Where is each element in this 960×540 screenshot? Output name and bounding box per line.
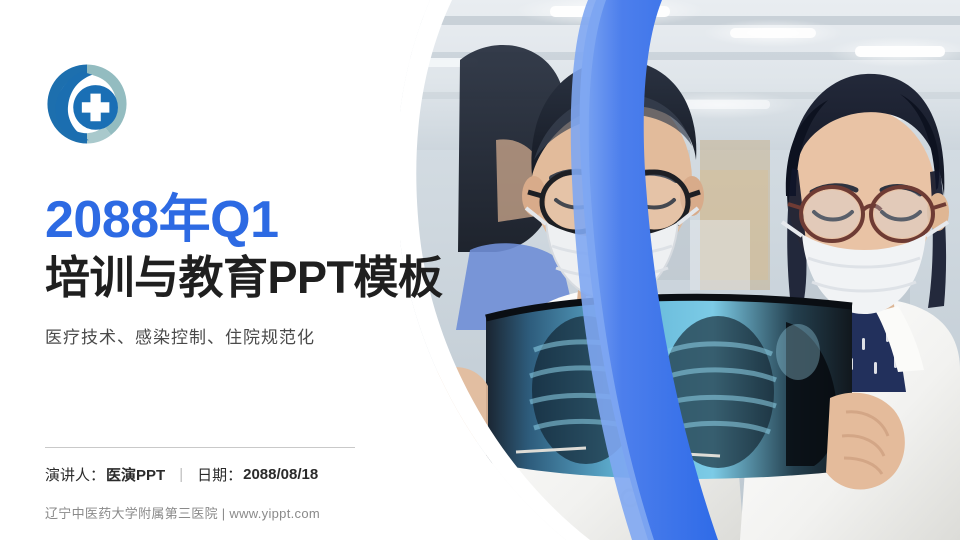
hero-photo (400, 0, 960, 540)
footer-meta-row: 演讲人： 医演PPT | 日期： 2088/08/18 (45, 464, 465, 485)
title-main: 培训与教育PPT模板 (45, 250, 465, 306)
speaker-label: 演讲人： (45, 464, 105, 485)
presentation-slide: 2088年Q1 培训与教育PPT模板 医疗技术、感染控制、住院规范化 演讲人： … (0, 0, 960, 540)
organization-and-website: 辽宁中医药大学附属第三医院 | www.yippt.com (45, 503, 465, 522)
footer-block: 演讲人： 医演PPT | 日期： 2088/08/18 辽宁中医药大学附属第三医… (45, 447, 465, 522)
title-year: 2088年Q1 (45, 190, 465, 250)
title-subtitle: 医疗技术、感染控制、住院规范化 (45, 326, 465, 350)
meta-separator: | (179, 466, 183, 483)
hospital-logo (44, 61, 130, 147)
title-block: 2088年Q1 培训与教育PPT模板 医疗技术、感染控制、住院规范化 (45, 190, 465, 350)
date-label: 日期： (197, 464, 242, 485)
date-value: 2088/08/18 (243, 466, 318, 483)
footer-divider (45, 447, 355, 448)
speaker-value: 医演PPT (106, 464, 165, 485)
